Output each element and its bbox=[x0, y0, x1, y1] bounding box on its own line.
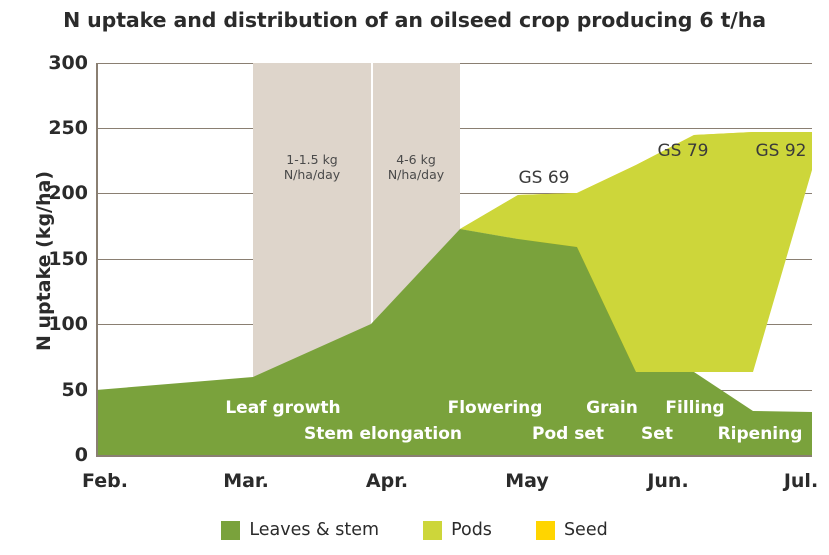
x-tick-may: May bbox=[505, 470, 549, 492]
stage-label-pod-set: Pod set bbox=[532, 424, 604, 444]
stage-label-flowering: Flowering bbox=[448, 398, 543, 418]
y-tick-100: 100 bbox=[28, 313, 88, 335]
legend-swatch-pods bbox=[423, 521, 442, 540]
legend-item-seed: Seed bbox=[536, 520, 608, 540]
stage-label-grain: Grain bbox=[586, 398, 638, 418]
legend-label-pods: Pods bbox=[451, 520, 492, 540]
x-axis-line bbox=[96, 455, 812, 457]
gs-label-92: GS 92 bbox=[756, 141, 807, 161]
x-tick-apr: Apr. bbox=[366, 470, 408, 492]
y-tick-150: 150 bbox=[28, 248, 88, 270]
gs-label-69: GS 69 bbox=[519, 168, 570, 188]
legend-item-pods: Pods bbox=[423, 520, 492, 540]
stage-label-ripening: Ripening bbox=[718, 424, 803, 444]
y-tick-0: 0 bbox=[28, 444, 88, 466]
x-tick-jun: Jun. bbox=[647, 470, 688, 492]
stage-label-leaf-growth: Leaf growth bbox=[225, 398, 340, 418]
y-tick-50: 50 bbox=[28, 379, 88, 401]
legend-label-seed: Seed bbox=[564, 520, 608, 540]
stage-label-stem-elongation: Stem elongation bbox=[304, 424, 462, 444]
stage-label-set: Set bbox=[641, 424, 673, 444]
x-tick-feb: Feb. bbox=[82, 470, 128, 492]
legend-swatch-leaves-stem bbox=[221, 521, 240, 540]
x-tick-jul: Jul. bbox=[784, 470, 818, 492]
y-axis-line bbox=[96, 63, 98, 455]
gs-label-79: GS 79 bbox=[658, 141, 709, 161]
legend-swatch-seed bbox=[536, 521, 555, 540]
y-tick-250: 250 bbox=[28, 117, 88, 139]
x-tick-mar: Mar. bbox=[223, 470, 269, 492]
legend-label-leaves-stem: Leaves & stem bbox=[249, 520, 379, 540]
y-tick-300: 300 bbox=[28, 52, 88, 74]
y-tick-200: 200 bbox=[28, 182, 88, 204]
chart-legend: Leaves & stem Pods Seed bbox=[0, 520, 829, 540]
chart-container: N uptake and distribution of an oilseed … bbox=[0, 0, 829, 555]
legend-item-leaves-stem: Leaves & stem bbox=[221, 520, 379, 540]
stage-label-filling: Filling bbox=[665, 398, 724, 418]
